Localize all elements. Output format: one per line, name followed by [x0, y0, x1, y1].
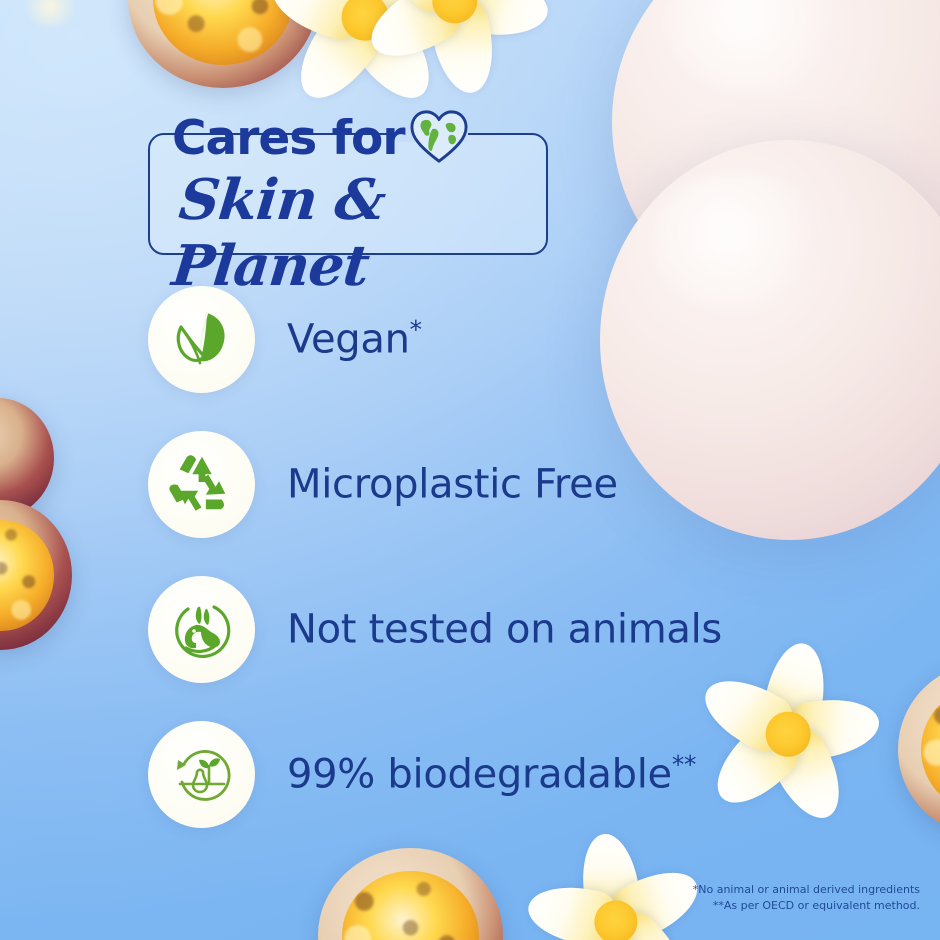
biodegradable-icon [148, 721, 255, 828]
footnote-line-2: **As per OECD or equivalent method. [693, 898, 920, 914]
claim-text: Not tested on animals [287, 607, 722, 653]
claim-label-biodegradable: 99% biodegradable** [287, 750, 696, 797]
frangipani-flower [392, 0, 518, 64]
claim-footnote-marker: ** [672, 750, 696, 779]
cares-for-skin-and-planet-badge: Cares for Skin & Planet [148, 133, 548, 255]
globe-heart-icon [408, 108, 470, 166]
claim-row-not-tested-on-animals: Not tested on animals [148, 575, 908, 683]
poster-canvas: Cares for Skin & Planet [0, 0, 940, 940]
badge-title-line1: Cares for [172, 111, 405, 166]
claim-text: Vegan [287, 317, 410, 363]
footnote-line-1: *No animal or animal derived ingredients [693, 882, 920, 898]
claim-label-not-tested-on-animals: Not tested on animals [287, 605, 722, 652]
recycle-icon [148, 431, 255, 538]
claim-text: Microplastic Free [287, 462, 618, 508]
claim-label-vegan: Vegan* [287, 315, 422, 362]
claim-footnote-marker: * [410, 315, 422, 344]
claim-row-microplastic-free: Microplastic Free [148, 430, 908, 538]
claim-row-vegan: Vegan* [148, 285, 908, 393]
frangipani-flower [556, 862, 676, 940]
claim-text: 99% biodegradable [287, 752, 672, 798]
footnotes: *No animal or animal derived ingredients… [693, 882, 920, 914]
rabbit-icon [148, 576, 255, 683]
claim-label-microplastic-free: Microplastic Free [287, 460, 618, 507]
badge-title-line2: Skin & Planet [169, 167, 553, 299]
claims-list: Vegan* Microplastic Free [148, 285, 908, 865]
claim-row-biodegradable: 99% biodegradable** [148, 720, 908, 828]
leaf-icon [148, 286, 255, 393]
